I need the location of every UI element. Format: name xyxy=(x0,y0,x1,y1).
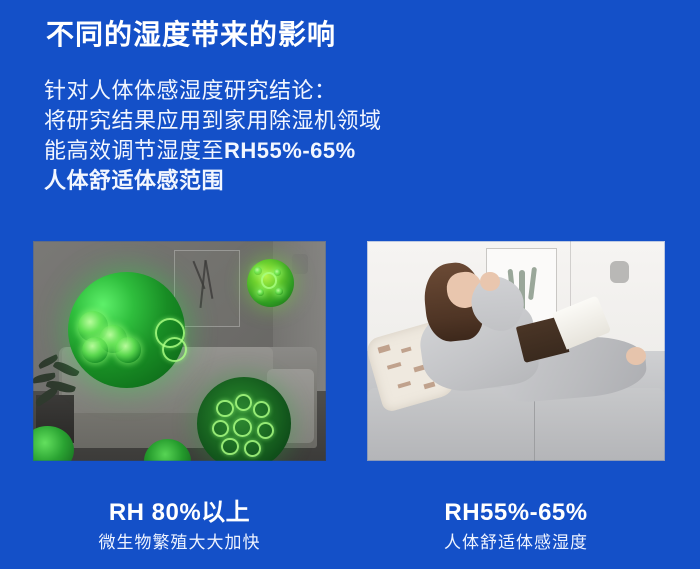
microbe-nodule xyxy=(254,267,262,275)
bright-living-room-scene xyxy=(367,241,665,461)
caption-comfort-sub: 人体舒适体感湿度 xyxy=(367,531,665,555)
microbe-ring xyxy=(212,420,229,437)
pillow-pattern-mark xyxy=(398,381,412,389)
microbe-nodule xyxy=(257,289,264,296)
microbe-small-top xyxy=(247,259,294,307)
microbe-nodule xyxy=(274,269,281,276)
microbe-nodule xyxy=(275,288,283,296)
wall-speaker-dark xyxy=(292,254,308,274)
microbe-nodule xyxy=(115,337,141,363)
microbe-ring xyxy=(216,400,234,418)
body-line-1: 针对人体体感湿度研究结论： xyxy=(44,76,382,106)
dim-living-room-scene xyxy=(33,241,326,461)
microbe-ring xyxy=(235,394,252,411)
caption-comfort-room: RH55%-65% 人体舒适体感湿度 xyxy=(367,498,665,555)
wall-art-frame-dark xyxy=(174,250,240,327)
microbe-nodule xyxy=(82,337,108,363)
microbe-ring xyxy=(253,401,270,418)
body-line-2: 将研究结果应用到家用除湿机领域 xyxy=(44,106,382,136)
microbe-ring xyxy=(221,438,238,455)
slide-root: 不同的湿度带来的影响 针对人体体感湿度研究结论： 将研究结果应用到家用除湿机领域… xyxy=(0,0,700,569)
caption-comfort-title: RH55%-65% xyxy=(367,498,665,528)
photo-comfort-room xyxy=(367,241,665,461)
page-title: 不同的湿度带来的影响 xyxy=(46,18,336,52)
microbe-ring xyxy=(257,422,274,439)
pillow-pattern-mark xyxy=(377,345,390,353)
microbe-ring xyxy=(233,418,252,437)
pillow-pattern-mark xyxy=(387,362,402,370)
caption-humid-sub: 微生物繁殖大大加快 xyxy=(33,531,326,555)
microbe-bottom xyxy=(197,377,291,461)
microbe-ring xyxy=(244,440,261,457)
body-line-3-prefix: 能高效调节湿度至 xyxy=(44,138,224,163)
art-twig xyxy=(205,260,214,299)
photo-humid-room xyxy=(33,241,326,461)
caption-humid-title: RH 80%以上 xyxy=(33,498,326,528)
humidity-range-highlight: RH55%-65% xyxy=(224,138,356,163)
body-line-3: 能高效调节湿度至RH55%-65% xyxy=(44,136,382,166)
woman-foot xyxy=(626,347,646,365)
microbe-large xyxy=(68,272,185,389)
pillow-pattern-mark xyxy=(400,347,411,354)
body-copy: 针对人体体感湿度研究结论： 将研究结果应用到家用除湿机领域 能高效调节湿度至RH… xyxy=(44,76,382,196)
caption-humid-room: RH 80%以上 微生物繁殖大大加快 xyxy=(33,498,326,555)
woman-reading xyxy=(421,263,642,413)
body-line-4: 人体舒适体感范围 xyxy=(44,166,382,196)
microbe-ring xyxy=(162,337,187,362)
